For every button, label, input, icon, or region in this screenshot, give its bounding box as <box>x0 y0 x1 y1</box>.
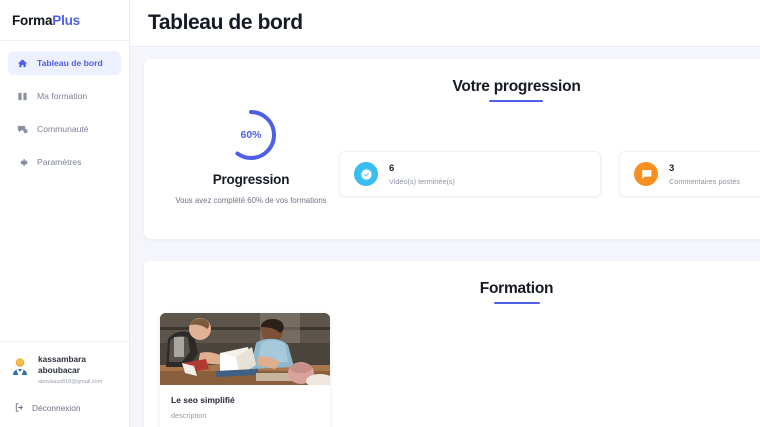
formation-section-header: Formation <box>144 261 760 304</box>
formation-panel: Formation <box>144 261 760 427</box>
progress-section-header: Votre progression <box>144 59 760 102</box>
course-description: description <box>171 411 319 420</box>
app-root: FormaPlus Tableau de bord Ma formation <box>0 0 760 427</box>
stat-cards: 6 Vidéo(s) terminée(s) 3 Commentaires po… <box>339 151 760 197</box>
sidebar-item-communaute[interactable]: Communauté <box>8 117 121 141</box>
chat-icon <box>17 124 28 135</box>
progress-subtitle: Vous avez complété 60% de vos formations <box>156 196 346 205</box>
course-card[interactable]: Le seo simplifié description <box>160 313 330 427</box>
stat-value: 3 <box>669 163 740 175</box>
topbar: Tableau de bord <box>130 0 760 47</box>
stat-value: 6 <box>389 163 455 175</box>
logout-label: Déconnexion <box>32 403 80 413</box>
sidebar-spacer <box>0 183 129 341</box>
course-body: Le seo simplifié description <box>160 385 330 427</box>
progress-panel: Votre progression 60% Progression Vous a… <box>144 59 760 239</box>
page-title: Tableau de bord <box>148 11 303 35</box>
progress-ring: 60% <box>223 107 279 163</box>
brand-logo-part-1: Forma <box>12 13 52 28</box>
stat-text: 3 Commentaires postés <box>669 163 740 186</box>
comment-icon <box>634 162 658 186</box>
sidebar-item-label: Communauté <box>37 124 89 134</box>
sidebar-item-label: Paramètres <box>37 157 81 167</box>
stat-text: 6 Vidéo(s) terminée(s) <box>389 163 455 186</box>
main-area: Tableau de bord Votre progression 60% <box>130 0 760 427</box>
formation-section-title: Formation <box>480 280 554 304</box>
logout-icon <box>14 402 25 413</box>
logout-button[interactable]: Déconnexion <box>0 392 129 427</box>
sidebar: FormaPlus Tableau de bord Ma formation <box>0 0 130 427</box>
avatar <box>10 356 30 376</box>
progress-section-title: Votre progression <box>452 78 580 102</box>
brand-logo-part-2: Plus <box>52 13 80 28</box>
sidebar-nav: Tableau de bord Ma formation Communauté … <box>0 41 129 183</box>
progress-ring-block: 60% Progression Vous avez complété 60% d… <box>156 107 346 205</box>
user-email: aboukass818@gmail.com <box>38 378 119 386</box>
sidebar-item-tableau-de-bord[interactable]: Tableau de bord <box>8 51 121 75</box>
sidebar-item-label: Tableau de bord <box>37 58 103 68</box>
course-thumbnail <box>160 313 330 385</box>
sidebar-item-label: Ma formation <box>37 91 87 101</box>
user-name: kassambara aboubacar <box>38 354 119 376</box>
brand-logo[interactable]: FormaPlus <box>0 0 129 40</box>
progress-label: Progression <box>156 172 346 187</box>
check-circle-icon <box>354 162 378 186</box>
stat-card-videos[interactable]: 6 Vidéo(s) terminée(s) <box>339 151 601 197</box>
gear-icon <box>17 157 28 168</box>
course-thumbnail-illustration <box>160 313 330 385</box>
sidebar-item-ma-formation[interactable]: Ma formation <box>8 84 121 108</box>
stat-label: Vidéo(s) terminée(s) <box>389 177 455 186</box>
sidebar-item-parametres[interactable]: Paramètres <box>8 150 121 174</box>
progress-percent-label: 60% <box>223 107 279 163</box>
course-title: Le seo simplifié <box>171 395 319 405</box>
stat-label: Commentaires postés <box>669 177 740 186</box>
user-info: kassambara aboubacar aboukass818@gmail.c… <box>38 354 119 386</box>
book-icon <box>17 91 28 102</box>
home-icon <box>17 58 28 69</box>
content: Votre progression 60% Progression Vous a… <box>130 47 760 427</box>
stat-card-comments[interactable]: 3 Commentaires postés <box>619 151 760 197</box>
sidebar-user-block[interactable]: kassambara aboubacar aboukass818@gmail.c… <box>0 341 129 392</box>
